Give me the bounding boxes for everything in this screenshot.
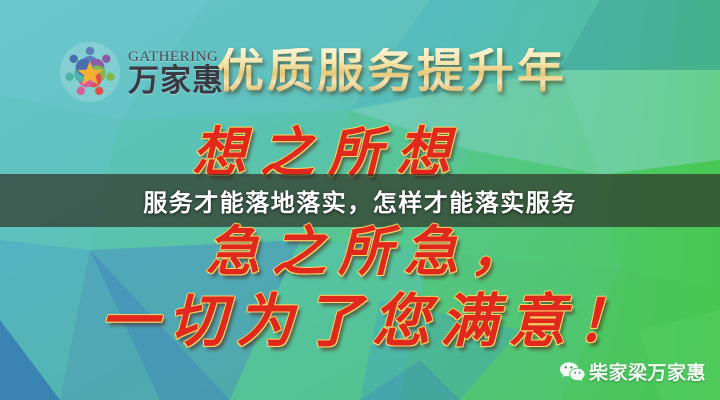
logo-chinese-name: 万家惠 xyxy=(128,66,224,97)
calligraphy-line-3: 一切为了您满意！ xyxy=(100,292,644,350)
wechat-icon xyxy=(559,361,585,383)
wechat-watermark: 柴家梁万家惠 xyxy=(559,358,706,385)
gold-headline: 优质服务提升年 xyxy=(222,40,562,102)
caption-text: 服务才能落地落实，怎样才能落实服务 xyxy=(143,183,577,218)
logo-mark-icon xyxy=(58,40,122,104)
calligraphy-line-1: 想之所想 xyxy=(192,126,464,180)
poster-image: GATHERING 万家惠 优质服务提升年 想之所想 服务才能落地落实，怎样才能… xyxy=(0,0,720,400)
headline-text: 优质服务提升年 xyxy=(217,48,567,95)
calligraphy-line-2: 急之所急， xyxy=(206,225,536,279)
watermark-text: 柴家梁万家惠 xyxy=(589,358,706,385)
